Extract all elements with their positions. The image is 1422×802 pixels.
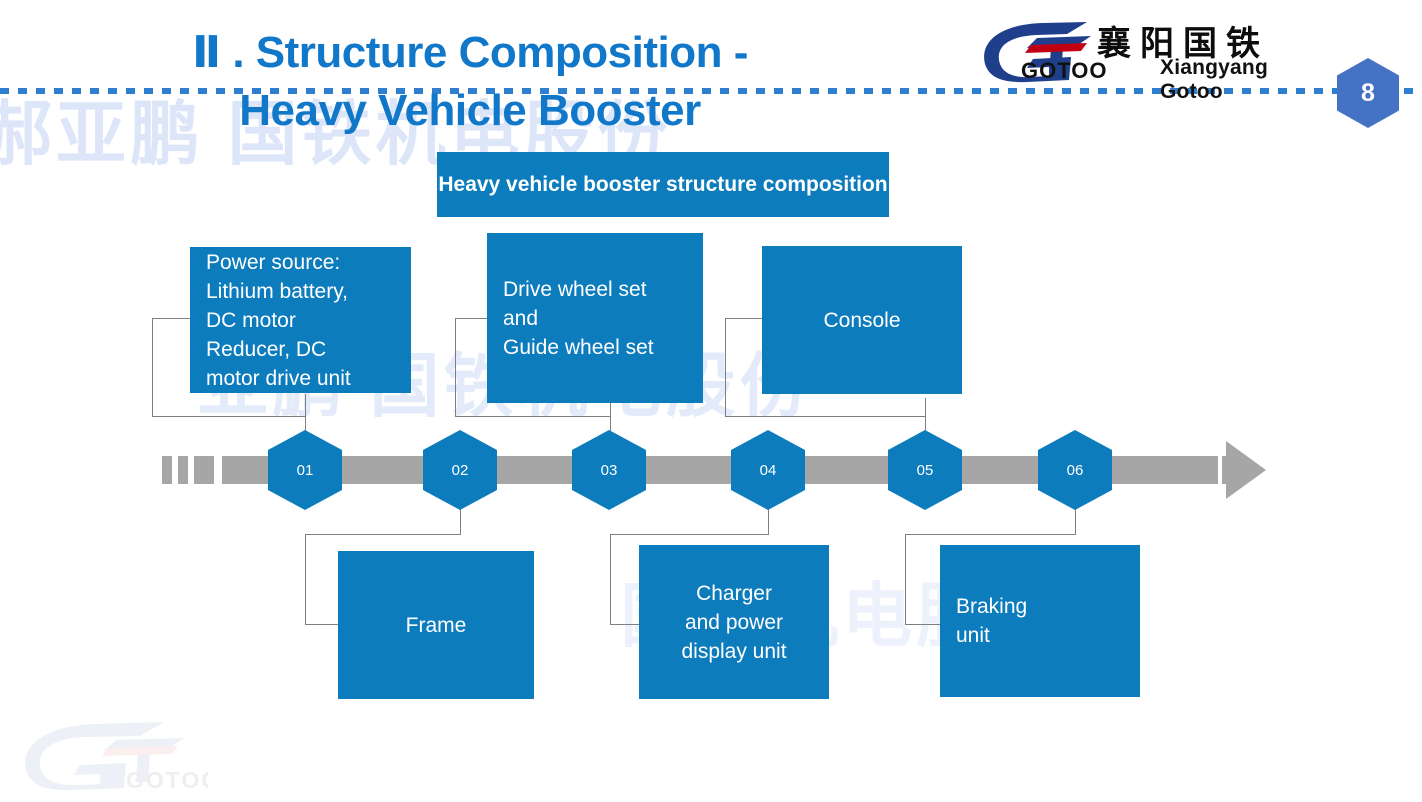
connector-01-horizontal bbox=[152, 416, 305, 418]
step-number-04: 04 bbox=[760, 462, 777, 479]
connector-02-stem bbox=[460, 506, 462, 534]
page-number-label: 8 bbox=[1361, 79, 1375, 108]
connector-06-tap bbox=[905, 624, 943, 626]
step-number-05: 05 bbox=[917, 462, 934, 479]
connector-04-horizontal bbox=[610, 534, 769, 536]
step-hexagon-04[interactable]: 04 bbox=[731, 430, 805, 510]
connector-05-vertical bbox=[725, 318, 727, 416]
connector-04-stem bbox=[768, 506, 770, 534]
page-title-line-1: Ⅱ . Structure Composition - bbox=[192, 28, 748, 77]
connector-01-stem bbox=[305, 394, 307, 436]
step-number-02: 02 bbox=[452, 462, 469, 479]
step-box-04[interactable]: Charger and power display unit bbox=[639, 545, 829, 699]
connector-01-vertical bbox=[152, 318, 154, 416]
step-hexagon-05[interactable]: 05 bbox=[888, 430, 962, 510]
step-hexagon-06[interactable]: 06 bbox=[1038, 430, 1112, 510]
connector-03-tap bbox=[455, 318, 491, 320]
slide-canvas: 郝亚鹏 国铁机电股份 亚鹏 国铁机电股份 国铁机电股份 GOTOO Ⅱ . St… bbox=[0, 0, 1422, 802]
connector-05-tap bbox=[725, 318, 763, 320]
timeline-arrow-head bbox=[1226, 441, 1266, 499]
connector-05-horizontal bbox=[725, 416, 925, 418]
step-label-03: Drive wheel set and Guide wheel set bbox=[503, 275, 654, 362]
step-box-03[interactable]: Drive wheel set and Guide wheel set bbox=[487, 233, 703, 403]
connector-01-tap bbox=[152, 318, 192, 320]
connector-06-vertical bbox=[905, 534, 907, 624]
step-box-05[interactable]: Console bbox=[762, 246, 962, 394]
step-box-06[interactable]: Braking unit bbox=[940, 545, 1140, 697]
step-number-06: 06 bbox=[1067, 462, 1084, 479]
step-label-01: Power source: Lithium battery, DC motor … bbox=[206, 248, 351, 393]
connector-02-vertical bbox=[305, 534, 307, 624]
company-logo: GOTOO 襄阳国铁 Xiangyang Gotoo bbox=[975, 18, 1285, 90]
step-box-01[interactable]: Power source: Lithium battery, DC motor … bbox=[190, 247, 411, 393]
step-label-04: Charger and power display unit bbox=[681, 579, 786, 666]
step-hexagon-02[interactable]: 02 bbox=[423, 430, 497, 510]
diagram-header-box: Heavy vehicle booster structure composit… bbox=[437, 152, 889, 217]
step-label-05: Console bbox=[823, 306, 900, 335]
connector-03-horizontal bbox=[455, 416, 610, 418]
connector-06-horizontal bbox=[905, 534, 1076, 536]
timeline-dash-3 bbox=[194, 456, 214, 484]
timeline-dash-2 bbox=[178, 456, 188, 484]
timeline-dash-1 bbox=[162, 456, 172, 484]
step-number-03: 03 bbox=[601, 462, 618, 479]
step-label-02: Frame bbox=[406, 611, 467, 640]
step-label-06: Braking unit bbox=[956, 592, 1027, 650]
connector-02-horizontal bbox=[305, 534, 461, 536]
step-hexagon-01[interactable]: 01 bbox=[268, 430, 342, 510]
logo-mark-text: GOTOO bbox=[1021, 58, 1108, 84]
page-title-line-2: Heavy Vehicle Booster bbox=[0, 82, 940, 140]
step-hexagon-03[interactable]: 03 bbox=[572, 430, 646, 510]
logo-english-name: Xiangyang Gotoo bbox=[1160, 56, 1285, 104]
step-number-01: 01 bbox=[297, 462, 314, 479]
page-title: Ⅱ . Structure Composition - Heavy Vehicl… bbox=[0, 24, 940, 140]
step-box-02[interactable]: Frame bbox=[338, 551, 534, 699]
connector-06-stem bbox=[1075, 506, 1077, 534]
connector-03-stem bbox=[610, 398, 612, 436]
connector-04-vertical bbox=[610, 534, 612, 624]
connector-03-vertical bbox=[455, 318, 457, 416]
